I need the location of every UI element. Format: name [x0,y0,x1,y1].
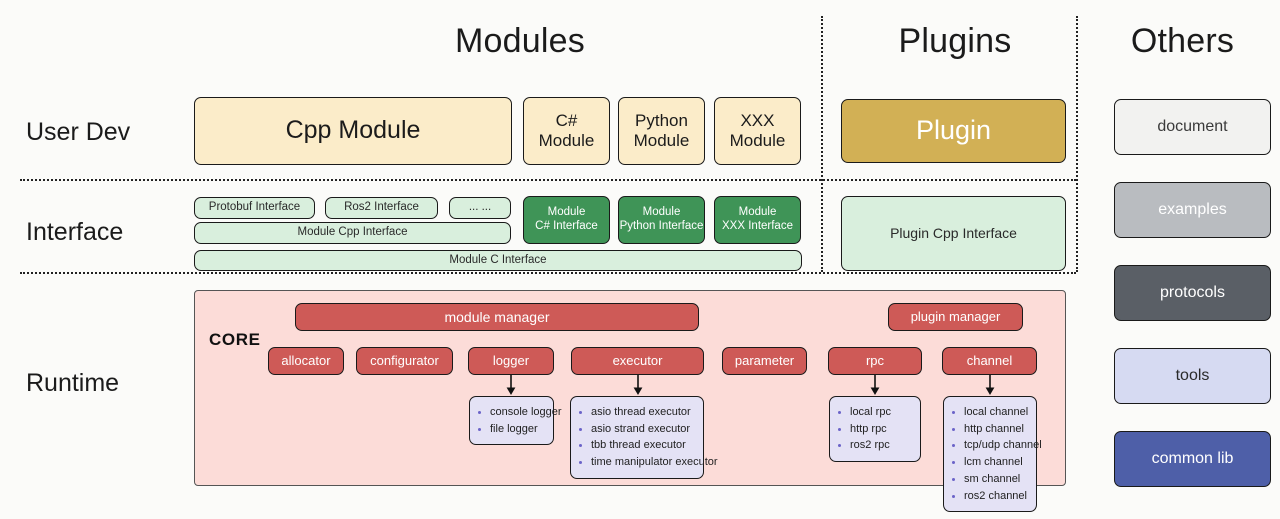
user-plugin[interactable]: Plugin [841,99,1066,163]
core-plugin-manager[interactable]: plugin manager [888,303,1023,331]
interface-module-cpp[interactable]: Module Cpp Interface [194,222,511,244]
core-label: CORE [209,330,261,350]
detail-rpc: local rpc http rpc ros2 rpc [829,396,921,462]
detail-executor-list: asio thread executor asio strand executo… [577,404,695,471]
divider-userdev-interface [20,179,1076,181]
detail-executor: asio thread executor asio strand executo… [570,396,704,479]
list-item: asio strand executor [591,421,695,438]
core-component-parameter[interactable]: parameter [722,347,807,375]
core-component-rpc[interactable]: rpc [828,347,922,375]
detail-logger: console logger file logger [469,396,554,445]
user-module-xxx[interactable]: XXX Module [714,97,801,165]
list-item: time manipulator executor [591,454,695,471]
arrow-executor [631,375,645,396]
row-label-runtime: Runtime [26,369,119,398]
others-protocols[interactable]: protocols [1114,265,1271,321]
user-module-csharp[interactable]: C# Module [523,97,610,165]
list-item: local rpc [850,404,912,421]
list-item: console logger [490,404,545,421]
interface-module-csharp[interactable]: Module C# Interface [523,196,610,244]
others-document[interactable]: document [1114,99,1271,155]
core-component-channel[interactable]: channel [942,347,1037,375]
arrow-channel [983,375,997,396]
detail-rpc-list: local rpc http rpc ros2 rpc [836,404,912,454]
core-component-logger[interactable]: logger [468,347,554,375]
list-item: asio thread executor [591,404,695,421]
architecture-diagram: Modules Plugins Others User Dev Interfac… [0,0,1280,519]
list-item: local channel [964,404,1028,421]
divider-modules-plugins [821,16,823,272]
interface-ros2[interactable]: Ros2 Interface [325,197,438,219]
detail-channel: local channel http channel tcp/udp chann… [943,396,1037,512]
list-item: http rpc [850,421,912,438]
interface-module-python[interactable]: Module Python Interface [618,196,705,244]
others-common-lib[interactable]: common lib [1114,431,1271,487]
core-module-manager[interactable]: module manager [295,303,699,331]
list-item: ros2 channel [964,488,1028,505]
others-tools[interactable]: tools [1114,348,1271,404]
column-header-modules: Modules [300,22,740,61]
core-component-executor[interactable]: executor [571,347,704,375]
list-item: tbb thread executor [591,437,695,454]
list-item: tcp/udp channel [964,437,1028,454]
others-examples[interactable]: examples [1114,182,1271,238]
row-label-interface: Interface [26,218,123,247]
detail-channel-list: local channel http channel tcp/udp chann… [950,404,1028,504]
column-header-others: Others [1085,22,1280,61]
list-item: file logger [490,421,545,438]
interface-protobuf[interactable]: Protobuf Interface [194,197,315,219]
user-module-cpp[interactable]: Cpp Module [194,97,512,165]
user-module-python[interactable]: Python Module [618,97,705,165]
divider-plugins-others [1076,16,1078,272]
arrow-logger [504,375,518,396]
list-item: ros2 rpc [850,437,912,454]
core-component-allocator[interactable]: allocator [268,347,344,375]
row-label-user-dev: User Dev [26,118,130,147]
divider-interface-runtime [20,272,1076,274]
interface-module-xxx[interactable]: Module XXX Interface [714,196,801,244]
list-item: lcm channel [964,454,1028,471]
list-item: http channel [964,421,1028,438]
interface-module-c[interactable]: Module C Interface [194,250,802,271]
list-item: sm channel [964,471,1028,488]
detail-logger-list: console logger file logger [476,404,545,437]
interface-plugin-cpp[interactable]: Plugin Cpp Interface [841,196,1066,271]
core-component-configurator[interactable]: configurator [356,347,453,375]
column-header-plugins: Plugins [830,22,1080,61]
arrow-rpc [868,375,882,396]
interface-more[interactable]: ... ... [449,197,511,219]
